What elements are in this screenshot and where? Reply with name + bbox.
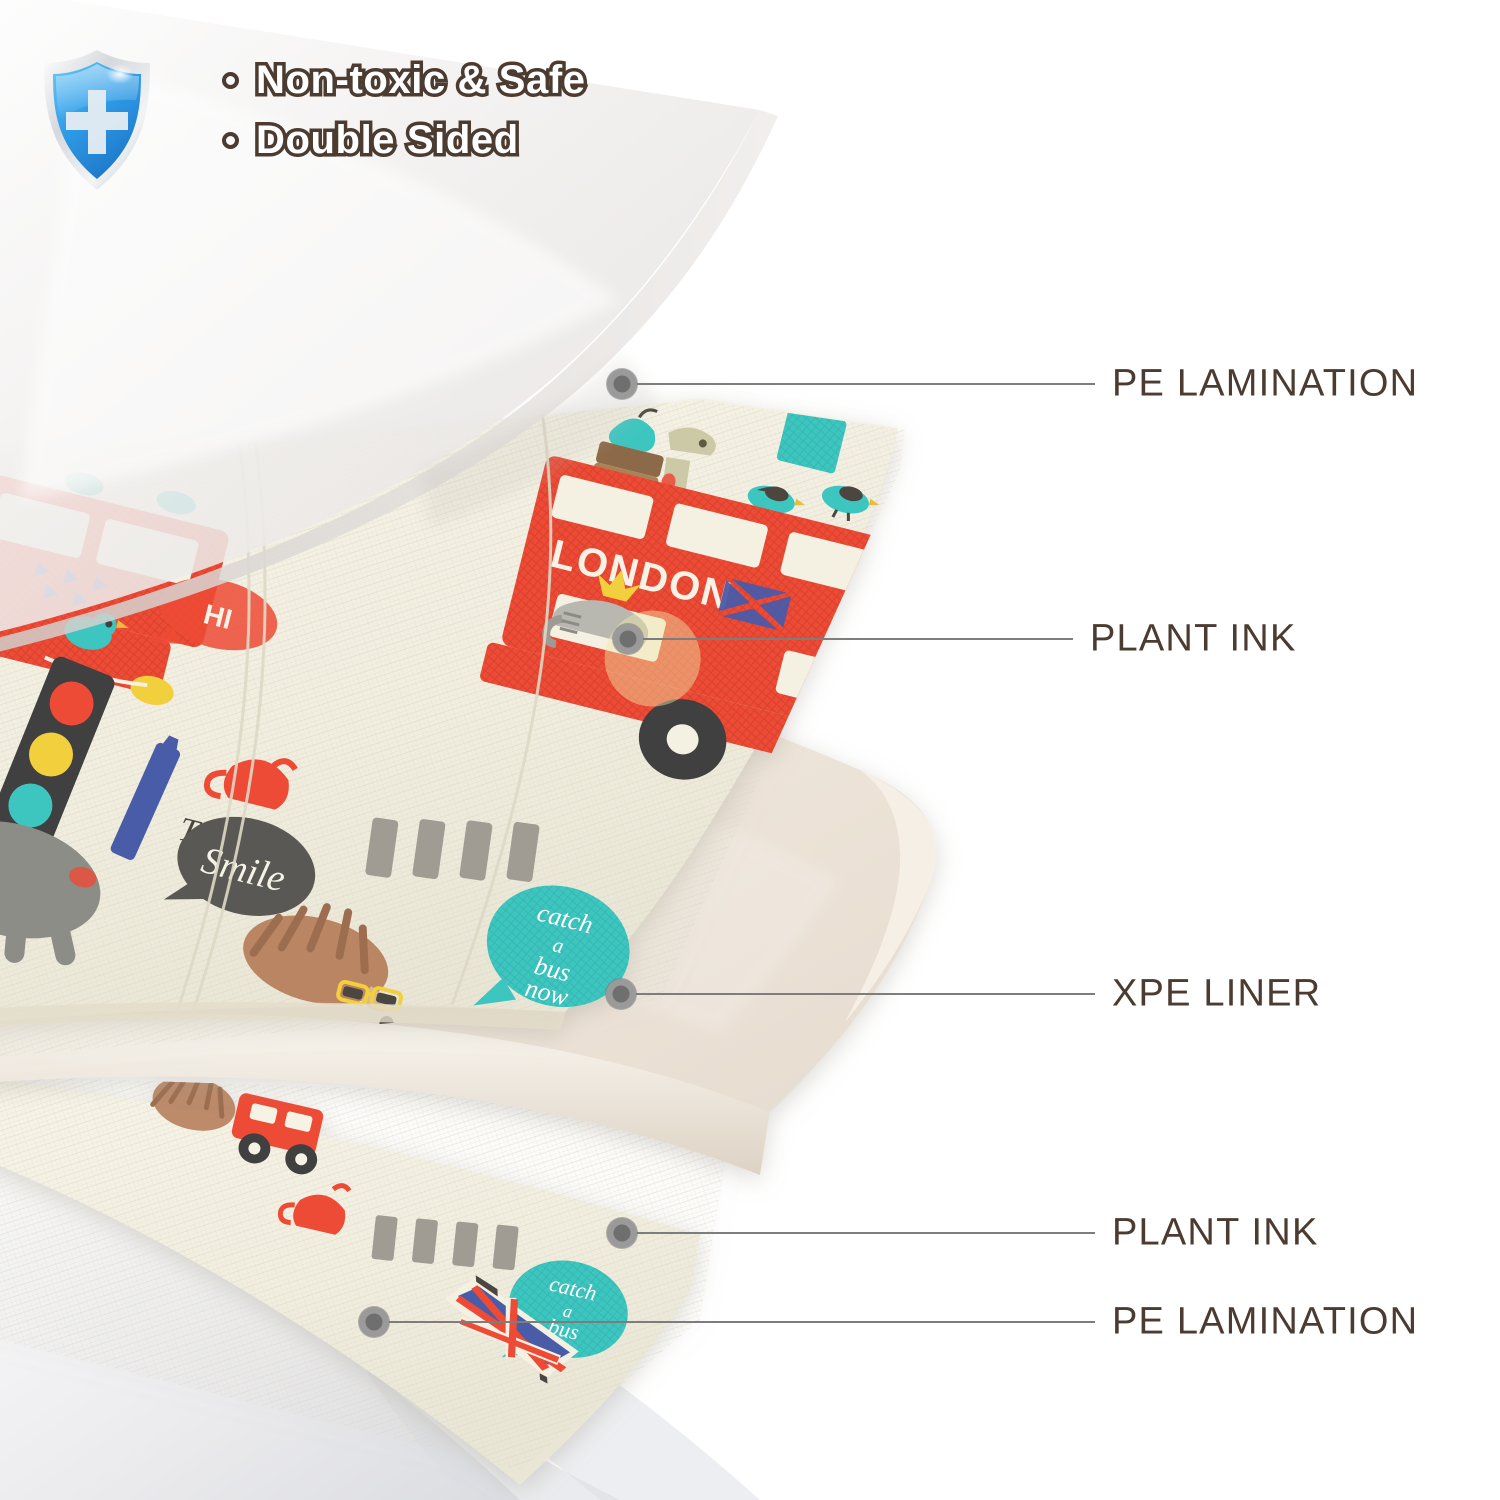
callout-label-plant-ink-bottom: PLANT INK: [1112, 1212, 1319, 1255]
safety-badge: Non-toxic & Safe Double Sided: [36, 46, 676, 196]
shield-plus-icon: [36, 46, 158, 194]
feature-list: Non-toxic & Safe Double Sided: [222, 50, 692, 170]
callout-dot: [359, 1307, 389, 1337]
callout-label-pe-lamination-bottom: PE LAMINATION: [1112, 1301, 1418, 1344]
feature-label: Non-toxic & Safe: [256, 58, 586, 103]
circle-bullet-icon: [222, 132, 239, 149]
feature-item-1: Double Sided: [222, 110, 692, 170]
callout-line: [622, 1232, 1095, 1234]
callout-line: [622, 383, 1095, 385]
mat-layer-stack: catch a bus: [0, 0, 1500, 1500]
circle-bullet-icon: [222, 72, 239, 89]
callout-line: [374, 1321, 1095, 1323]
callout-dot: [613, 624, 643, 654]
feature-label: Double Sided: [256, 118, 519, 163]
callout-dot: [607, 1218, 637, 1248]
feature-item-0: Non-toxic & Safe: [222, 50, 692, 110]
callout-label-xpe-liner: XPE LINER: [1112, 973, 1321, 1016]
callout-dot: [607, 369, 637, 399]
callout-label-pe-lamination-top: PE LAMINATION: [1112, 363, 1418, 406]
callout-label-plant-ink-top: PLANT INK: [1090, 618, 1297, 661]
product-layer-diagram: catch a bus: [0, 0, 1500, 1500]
callout-line: [628, 638, 1073, 640]
callout-line: [621, 993, 1095, 995]
callout-dot: [606, 979, 636, 1009]
